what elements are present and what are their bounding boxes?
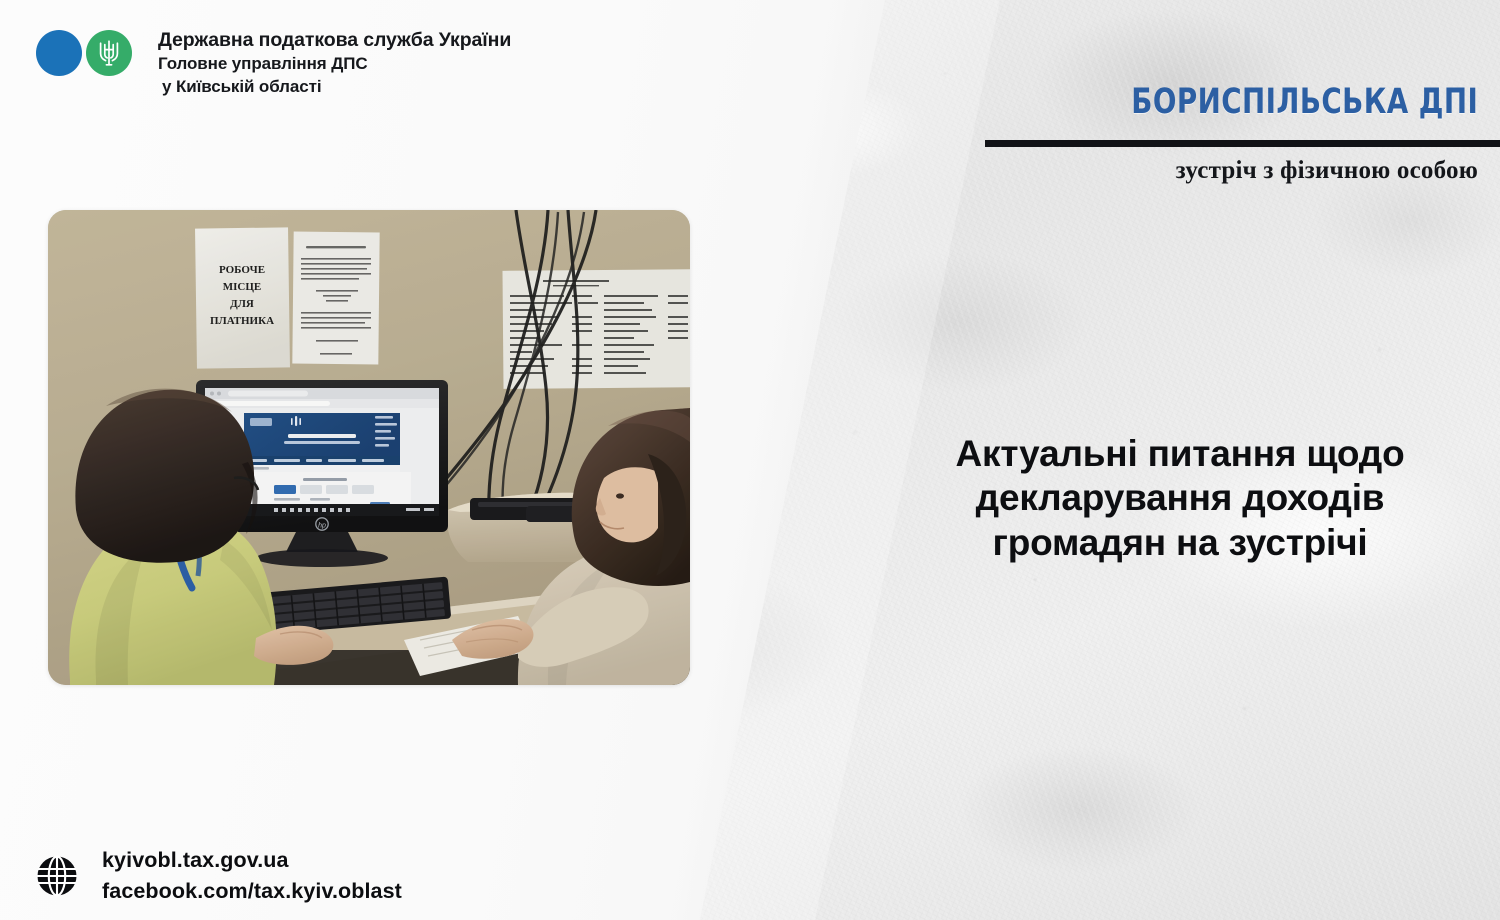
footer-contacts: kyivobl.tax.gov.ua facebook.com/tax.kyiv… [34, 848, 402, 904]
org-name-line-2: Головне управління ДПС [158, 53, 511, 76]
footer-link-list: kyivobl.tax.gov.ua facebook.com/tax.kyiv… [102, 848, 402, 904]
brand-header: Державна податкова служба України Головн… [32, 14, 511, 99]
office-consultation-photo: РОБОЧЕ МІСЦЕ ДЛЯ ПЛАТНИКА [48, 210, 690, 685]
org-name-line-3: у Київській області [158, 76, 511, 99]
trident-emblem-icon [86, 30, 132, 76]
meeting-kind-subtitle: зустріч з фізичною особою [1176, 157, 1478, 185]
globe-icon [34, 853, 80, 899]
poster-canvas: Державна податкова служба України Головн… [0, 0, 1500, 920]
page-title: Актуальні питання щодо декларування дохо… [880, 432, 1480, 565]
unit-name-title: БОРИСПІЛЬСЬКА ДПІ [1131, 82, 1478, 122]
org-name-block: Державна податкова служба України Головн… [158, 14, 511, 99]
header-divider-rule [985, 140, 1500, 147]
logo-marks [32, 14, 144, 76]
blue-circle-icon [36, 30, 82, 76]
facebook-link[interactable]: facebook.com/tax.kyiv.oblast [102, 879, 402, 904]
org-name-line-1: Державна податкова служба України [158, 28, 511, 53]
headline-line-3: громадян на зустрічі [880, 521, 1480, 565]
headline-line-1: Актуальні питання щодо [880, 432, 1480, 476]
website-link[interactable]: kyivobl.tax.gov.ua [102, 848, 402, 873]
headline-line-2: декларування доходів [880, 476, 1480, 520]
